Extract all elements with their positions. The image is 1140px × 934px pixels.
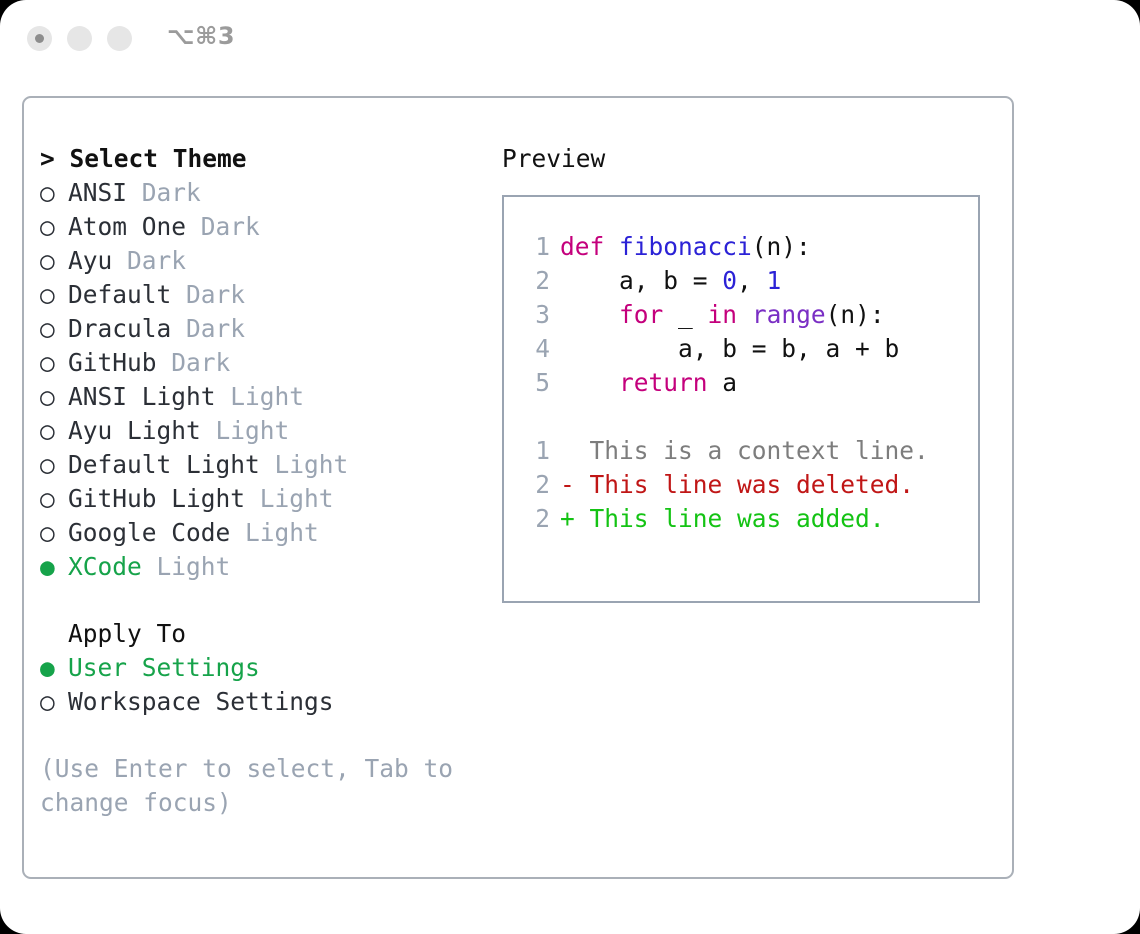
diff-line: 2- This line was deleted. bbox=[504, 468, 978, 502]
radio-unselected-icon: ○ bbox=[40, 482, 68, 516]
window-dot-active-inner bbox=[35, 34, 44, 43]
line-number: 1 bbox=[522, 434, 550, 468]
code-line: 4 a, b = b, a + b bbox=[504, 332, 978, 366]
theme-list-item[interactable]: ●XCode Light bbox=[40, 550, 490, 584]
code-token: 1 bbox=[767, 266, 782, 295]
theme-name-label: Ayu bbox=[68, 246, 112, 275]
theme-name-label: XCode bbox=[68, 552, 142, 581]
code-line: 1def fibonacci(n): bbox=[504, 230, 978, 264]
app-window: ⌥⌘3 > Select Theme ○ANSI Dark○Atom One D… bbox=[0, 0, 1140, 934]
radio-unselected-icon: ○ bbox=[40, 414, 68, 448]
theme-name-label: GitHub bbox=[68, 348, 157, 377]
code-token bbox=[737, 300, 752, 329]
code-token: range bbox=[752, 300, 826, 329]
radio-selected-icon: ● bbox=[40, 550, 68, 584]
theme-picker-column: > Select Theme ○ANSI Dark○Atom One Dark○… bbox=[40, 142, 490, 820]
preview-spacer bbox=[504, 400, 978, 434]
theme-kind-label: Light bbox=[260, 450, 349, 479]
radio-unselected-icon: ○ bbox=[40, 278, 68, 312]
radio-unselected-icon: ○ bbox=[40, 176, 68, 210]
line-number: 4 bbox=[522, 332, 550, 366]
code-token: in bbox=[708, 300, 738, 329]
diff-text: This is a context line. bbox=[560, 436, 929, 465]
line-number: 2 bbox=[522, 264, 550, 298]
diff-line: 2+ This line was added. bbox=[504, 502, 978, 536]
apply-to-label: Workspace Settings bbox=[68, 687, 334, 716]
code-token bbox=[560, 368, 619, 397]
theme-kind-label: Dark bbox=[157, 348, 231, 377]
code-token: , bbox=[737, 266, 767, 295]
theme-name-label: ANSI Light bbox=[68, 382, 216, 411]
radio-unselected-icon: ○ bbox=[40, 244, 68, 278]
main-panel: > Select Theme ○ANSI Dark○Atom One Dark○… bbox=[22, 96, 1014, 879]
select-theme-heading-label: Select Theme bbox=[70, 144, 247, 173]
line-number: 1 bbox=[522, 230, 550, 264]
line-number: 3 bbox=[522, 298, 550, 332]
theme-kind-label: Dark bbox=[171, 280, 245, 309]
theme-kind-label: Dark bbox=[112, 246, 186, 275]
diff-line: 1 This is a context line. bbox=[504, 434, 978, 468]
keyboard-shortcut-label: ⌥⌘3 bbox=[167, 22, 235, 50]
theme-name-label: Ayu Light bbox=[68, 416, 201, 445]
theme-kind-label: Light bbox=[142, 552, 231, 581]
theme-list-item[interactable]: ○Ayu Dark bbox=[40, 244, 490, 278]
theme-list-item[interactable]: ○Atom One Dark bbox=[40, 210, 490, 244]
theme-kind-label: Dark bbox=[127, 178, 201, 207]
theme-kind-label: Dark bbox=[171, 314, 245, 343]
radio-unselected-icon: ○ bbox=[40, 210, 68, 244]
theme-list-item[interactable]: ○Default Light Light bbox=[40, 448, 490, 482]
caret-icon: > bbox=[40, 144, 55, 173]
theme-list-item[interactable]: ○Dracula Dark bbox=[40, 312, 490, 346]
window-dot-2-icon[interactable] bbox=[67, 26, 92, 51]
theme-kind-label: Light bbox=[201, 416, 290, 445]
theme-list: ○ANSI Dark○Atom One Dark○Ayu Dark○Defaul… bbox=[40, 176, 490, 584]
code-token: a, b = bbox=[560, 266, 722, 295]
window-dot-active-icon[interactable] bbox=[27, 26, 52, 51]
line-number: 2 bbox=[522, 468, 550, 502]
preview-column: Preview 1def fibonacci(n):2 a, b = 0, 13… bbox=[502, 142, 992, 603]
theme-name-label: Atom One bbox=[68, 212, 186, 241]
code-line: 3 for _ in range(n): bbox=[504, 298, 978, 332]
code-token: (n): bbox=[752, 232, 811, 261]
preview-heading: Preview bbox=[502, 142, 992, 176]
apply-to-list: ●User Settings○Workspace Settings bbox=[40, 651, 490, 719]
code-token: def bbox=[560, 232, 619, 261]
apply-to-item[interactable]: ○Workspace Settings bbox=[40, 685, 490, 719]
code-token: a, b = b, a + b bbox=[560, 334, 899, 363]
window-dot-3-icon[interactable] bbox=[107, 26, 132, 51]
theme-list-item[interactable]: ○GitHub Dark bbox=[40, 346, 490, 380]
help-hint-line-2: change focus) bbox=[40, 786, 455, 820]
theme-list-item[interactable]: ○GitHub Light Light bbox=[40, 482, 490, 516]
diff-text: + This line was added. bbox=[560, 504, 885, 533]
theme-name-label: GitHub Light bbox=[68, 484, 245, 513]
theme-name-label: Google Code bbox=[68, 518, 230, 547]
code-line: 5 return a bbox=[504, 366, 978, 400]
radio-unselected-icon: ○ bbox=[40, 380, 68, 414]
help-hint-line-1: (Use Enter to select, Tab to bbox=[40, 752, 455, 786]
apply-to-heading: Apply To bbox=[40, 617, 490, 651]
select-theme-heading: > Select Theme bbox=[40, 142, 490, 176]
theme-list-item[interactable]: ○Default Dark bbox=[40, 278, 490, 312]
apply-to-item[interactable]: ●User Settings bbox=[40, 651, 490, 685]
theme-name-label: Dracula bbox=[68, 314, 171, 343]
theme-kind-label: Dark bbox=[186, 212, 260, 241]
theme-name-label: Default Light bbox=[68, 450, 260, 479]
theme-list-item[interactable]: ○ANSI Dark bbox=[40, 176, 490, 210]
radio-unselected-icon: ○ bbox=[40, 516, 68, 550]
code-token: return bbox=[619, 368, 708, 397]
diff-preview: 1 This is a context line.2- This line wa… bbox=[504, 434, 978, 536]
code-preview: 1def fibonacci(n):2 a, b = 0, 13 for _ i… bbox=[504, 230, 978, 400]
theme-kind-label: Light bbox=[230, 518, 319, 547]
code-token: _ bbox=[663, 300, 707, 329]
apply-to-label: User Settings bbox=[68, 653, 260, 682]
theme-list-item[interactable]: ○ANSI Light Light bbox=[40, 380, 490, 414]
line-number: 5 bbox=[522, 366, 550, 400]
theme-name-label: Default bbox=[68, 280, 171, 309]
radio-unselected-icon: ○ bbox=[40, 346, 68, 380]
code-token: for bbox=[619, 300, 663, 329]
code-line: 2 a, b = 0, 1 bbox=[504, 264, 978, 298]
title-bar: ⌥⌘3 bbox=[0, 0, 1140, 78]
code-token bbox=[560, 300, 619, 329]
code-token: 0 bbox=[722, 266, 737, 295]
theme-list-item[interactable]: ○Google Code Light bbox=[40, 516, 490, 550]
help-hint-text: (Use Enter to select, Tab to change focu… bbox=[40, 752, 455, 820]
code-token: a bbox=[708, 368, 738, 397]
radio-unselected-icon: ○ bbox=[40, 312, 68, 346]
theme-name-label: ANSI bbox=[68, 178, 127, 207]
theme-kind-label: Light bbox=[245, 484, 334, 513]
preview-box: 1def fibonacci(n):2 a, b = 0, 13 for _ i… bbox=[502, 195, 980, 603]
line-number: 2 bbox=[522, 502, 550, 536]
code-token: (n): bbox=[826, 300, 885, 329]
theme-kind-label: Light bbox=[216, 382, 305, 411]
diff-text: - This line was deleted. bbox=[560, 470, 914, 499]
radio-selected-icon: ● bbox=[40, 651, 68, 685]
theme-list-item[interactable]: ○Ayu Light Light bbox=[40, 414, 490, 448]
code-token: fibonacci bbox=[619, 232, 752, 261]
radio-unselected-icon: ○ bbox=[40, 448, 68, 482]
radio-unselected-icon: ○ bbox=[40, 685, 68, 719]
apply-to-block: Apply To ●User Settings○Workspace Settin… bbox=[40, 617, 490, 719]
